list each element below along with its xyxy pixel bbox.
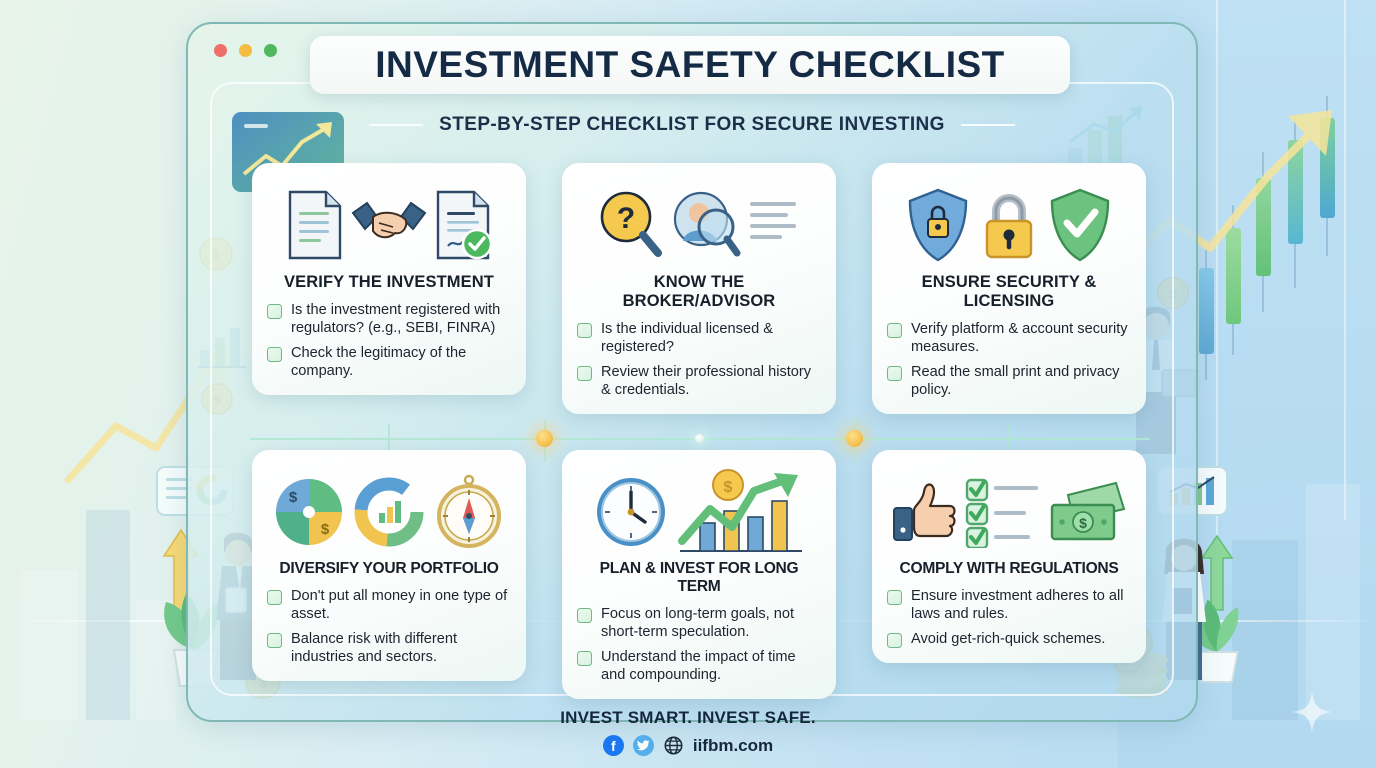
maximize-button[interactable] [264, 44, 277, 57]
checkbox[interactable] [577, 651, 592, 666]
website-label[interactable]: iifbm.com [693, 736, 773, 756]
checkbox[interactable] [267, 304, 282, 319]
subtitle-dash-right [961, 124, 1015, 126]
card-checklist: Focus on long-term goals, not short-term… [577, 605, 821, 684]
checklist-item[interactable]: Focus on long-term goals, not short-term… [577, 605, 821, 641]
building-shape [1306, 484, 1360, 720]
checklist-item[interactable]: Understand the impact of time and compou… [577, 648, 821, 684]
compass-icon [433, 474, 505, 550]
card-title: ENSURE SECURITY & LICENSING [887, 273, 1131, 311]
checkbox[interactable] [267, 347, 282, 362]
card-verify-investment[interactable]: VERIFY THE INVESTMENT Is the investment … [252, 163, 526, 395]
checkbox[interactable] [577, 608, 592, 623]
padlock-icon [977, 185, 1041, 265]
card-icons [887, 177, 1131, 273]
checklist-item[interactable]: Is the individual licensed & registered? [577, 320, 821, 356]
svg-text:$: $ [1079, 515, 1087, 531]
card-icons: $ [577, 464, 821, 560]
svg-text:$: $ [289, 489, 298, 506]
card-icons: $ $ [267, 464, 511, 560]
checklist-item[interactable]: Is the investment registered with regula… [267, 301, 511, 337]
twitter-icon[interactable] [633, 735, 654, 756]
document-lines-icon [748, 198, 800, 252]
checklist-item[interactable]: Check the legitimacy of the company. [267, 344, 511, 380]
title-banner: INVESTMENT SAFETY CHECKLIST [310, 36, 1070, 94]
checklist-label: Ensure investment adheres to all laws an… [911, 587, 1131, 623]
building-shape [20, 570, 78, 720]
footer: INVEST SMART. INVEST SAFE. f iifbm.com [0, 708, 1376, 756]
card-plan-long-term[interactable]: $ PLAN & INVEST FOR LONG TERM Focus on l… [562, 450, 836, 699]
checklist-label: Verify platform & account security measu… [911, 320, 1131, 356]
clock-icon [593, 474, 669, 550]
checklist-label: Read the small print and privacy policy. [911, 363, 1131, 399]
globe-icon[interactable] [663, 735, 684, 756]
svg-text:$: $ [321, 521, 330, 538]
checkbox[interactable] [887, 366, 902, 381]
checklist-icon [965, 476, 1041, 548]
question-magnifier-icon: ? [598, 189, 662, 261]
checklist-label: Balance risk with different industries a… [291, 630, 511, 666]
pie-chart-icon: $ $ [273, 476, 345, 548]
growth-arrow-chart-icon: $ [676, 469, 806, 555]
page-subtitle: STEP-BY-STEP CHECKLIST FOR SECURE INVEST… [439, 114, 945, 136]
card-title: DIVERSIFY YOUR PORTFOLIO [267, 560, 511, 578]
card-checklist: Don't put all money in one type of asset… [267, 587, 511, 666]
checklist-item[interactable]: Review their professional history & cred… [577, 363, 821, 399]
connector-node [536, 430, 553, 447]
checkbox[interactable] [577, 366, 592, 381]
svg-text:?: ? [617, 202, 635, 235]
card-checklist: Is the investment registered with regula… [267, 301, 511, 380]
card-diversify-portfolio[interactable]: $ $ DIVERSIFY YOUR PORTFOLIO [252, 450, 526, 681]
card-know-broker[interactable]: ? KNOW THE BROKER/ADVISOR Is the individ… [562, 163, 836, 414]
shield-check-icon [1048, 187, 1112, 263]
checklist-label: Understand the impact of time and compou… [601, 648, 821, 684]
checklist-label: Don't put all money in one type of asset… [291, 587, 511, 623]
connector-node [846, 430, 863, 447]
checkbox[interactable] [267, 590, 282, 605]
banknotes-icon: $ [1048, 479, 1126, 545]
minimize-button[interactable] [239, 44, 252, 57]
card-comply-regulations[interactable]: $ COMPLY WITH REGULATIONS Ensure investm… [872, 450, 1146, 663]
person-magnifier-icon [669, 189, 741, 261]
checkbox[interactable] [577, 323, 592, 338]
checkbox[interactable] [887, 323, 902, 338]
card-title: KNOW THE BROKER/ADVISOR [577, 273, 821, 311]
chat-bubble-line [166, 496, 186, 499]
card-title: VERIFY THE INVESTMENT [267, 273, 511, 292]
card-icons: $ [887, 464, 1131, 560]
subtitle-row: STEP-BY-STEP CHECKLIST FOR SECURE INVEST… [186, 114, 1198, 136]
footer-tagline: INVEST SMART. INVEST SAFE. [0, 708, 1376, 728]
close-button[interactable] [214, 44, 227, 57]
social-links[interactable]: f iifbm.com [0, 735, 1376, 756]
checklist-label: Focus on long-term goals, not short-term… [601, 605, 821, 641]
checklist-item[interactable]: Don't put all money in one type of asset… [267, 587, 511, 623]
checklist-label: Review their professional history & cred… [601, 363, 821, 399]
svg-text:$: $ [723, 479, 732, 496]
card-title: PLAN & INVEST FOR LONG TERM [577, 560, 821, 596]
checklist-label: Is the investment registered with regula… [291, 301, 511, 337]
checkbox[interactable] [267, 633, 282, 648]
checklist-label: Check the legitimacy of the company. [291, 344, 511, 380]
card-checklist: Is the individual licensed & registered?… [577, 320, 821, 399]
checklist-label: Is the individual licensed & registered? [601, 320, 821, 356]
checklist-item[interactable]: Avoid get-rich-quick schemes. [887, 630, 1131, 648]
checklist-item[interactable]: Balance risk with different industries a… [267, 630, 511, 666]
document-icon [286, 188, 344, 262]
card-icons: ? [577, 177, 821, 273]
signed-document-check-icon [434, 188, 492, 262]
window-controls[interactable] [214, 44, 277, 57]
page-title: INVESTMENT SAFETY CHECKLIST [375, 44, 1005, 86]
card-checklist: Ensure investment adheres to all laws an… [887, 587, 1131, 648]
checkbox[interactable] [887, 633, 902, 648]
facebook-icon[interactable]: f [603, 735, 624, 756]
checkbox[interactable] [887, 590, 902, 605]
checklist-item[interactable]: Read the small print and privacy policy. [887, 363, 1131, 399]
donut-bar-chart-icon [352, 475, 426, 549]
checklist-item[interactable]: Ensure investment adheres to all laws an… [887, 587, 1131, 623]
card-checklist: Verify platform & account security measu… [887, 320, 1131, 399]
checklist-label: Avoid get-rich-quick schemes. [911, 630, 1105, 648]
thumbs-up-icon [892, 478, 958, 546]
connector-node-small [695, 434, 704, 443]
handshake-icon [351, 195, 427, 255]
building-shape [86, 510, 130, 720]
card-ensure-security[interactable]: ENSURE SECURITY & LICENSING Verify platf… [872, 163, 1146, 414]
checklist-item[interactable]: Verify platform & account security measu… [887, 320, 1131, 356]
card-icons [267, 177, 511, 273]
card-title: COMPLY WITH REGULATIONS [887, 560, 1131, 578]
shield-lock-icon [906, 187, 970, 263]
subtitle-dash-left [369, 124, 423, 126]
